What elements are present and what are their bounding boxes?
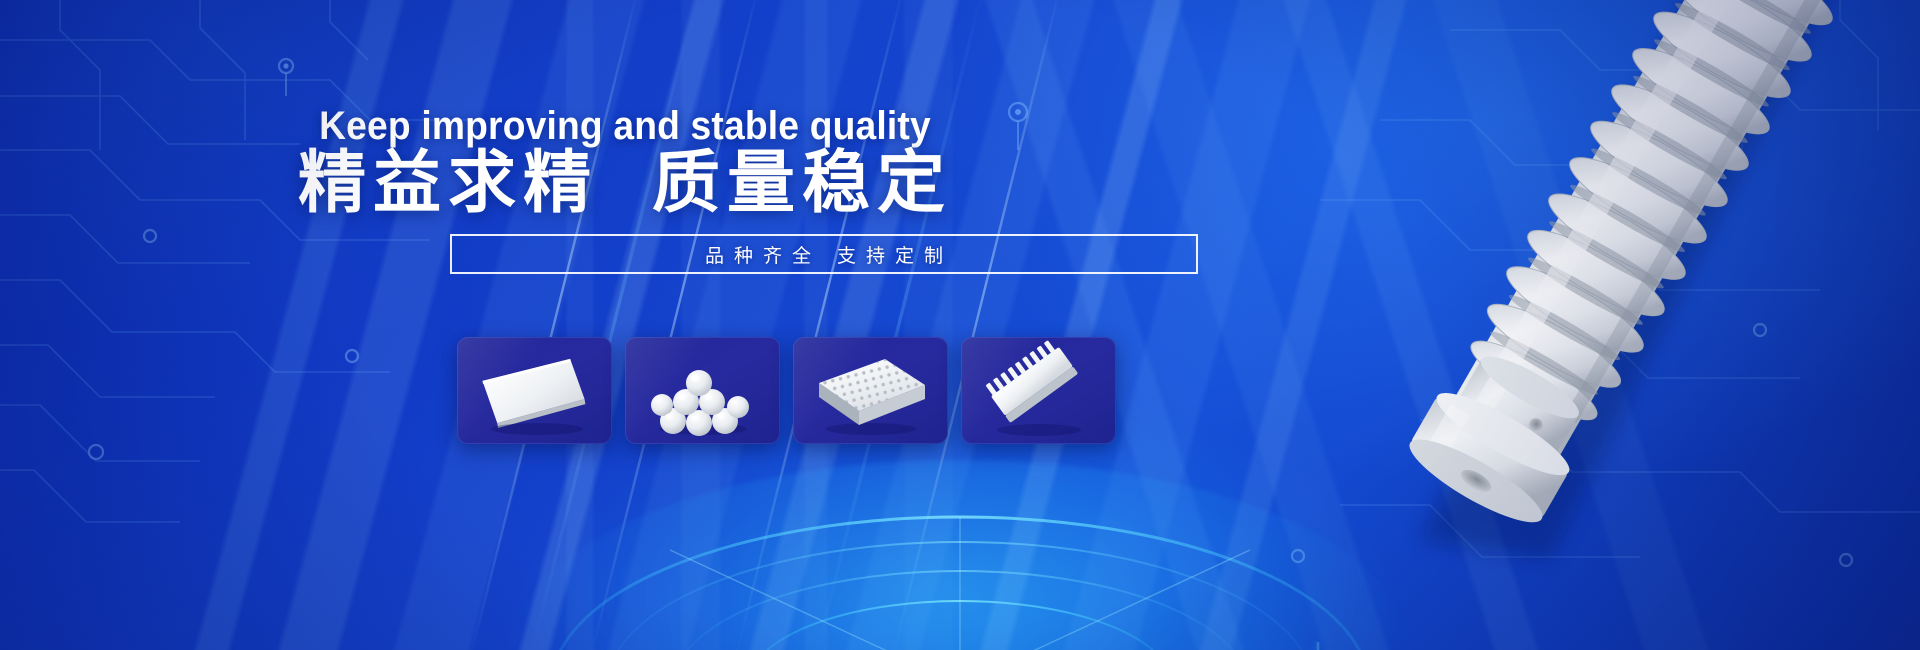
headline-block: Keep improving and stable quality 精益求精质量… <box>0 0 1250 650</box>
subtitle-text: 品种齐全支持定制 <box>695 241 953 268</box>
product-card-row <box>457 337 1116 444</box>
product-card-perforated-ceramic[interactable] <box>793 337 948 444</box>
product-card-ceramic-plate[interactable] <box>457 337 612 444</box>
main-headline: 精益求精质量稳定 <box>0 148 1250 219</box>
subtitle-left: 品种齐全 <box>705 246 821 267</box>
ceramic-plate-icon <box>457 337 612 444</box>
headline-right: 质量稳定 <box>652 145 952 221</box>
ceramic-balls-icon <box>625 337 780 444</box>
subtitle-box: 品种齐全支持定制 <box>450 234 1198 274</box>
hero-product-ceramic-bellows <box>1250 0 1920 650</box>
perforated-ceramic-icon <box>793 337 948 444</box>
ceramic-comb-icon <box>961 337 1116 444</box>
product-card-ceramic-balls[interactable] <box>625 337 780 444</box>
product-card-ceramic-comb[interactable] <box>961 337 1116 444</box>
headline-left: 精益求精 <box>298 145 598 221</box>
english-tagline: Keep improving and stable quality <box>44 104 1207 149</box>
promo-banner: Keep improving and stable quality 精益求精质量… <box>0 0 1920 650</box>
subtitle-right: 支持定制 <box>837 246 953 267</box>
